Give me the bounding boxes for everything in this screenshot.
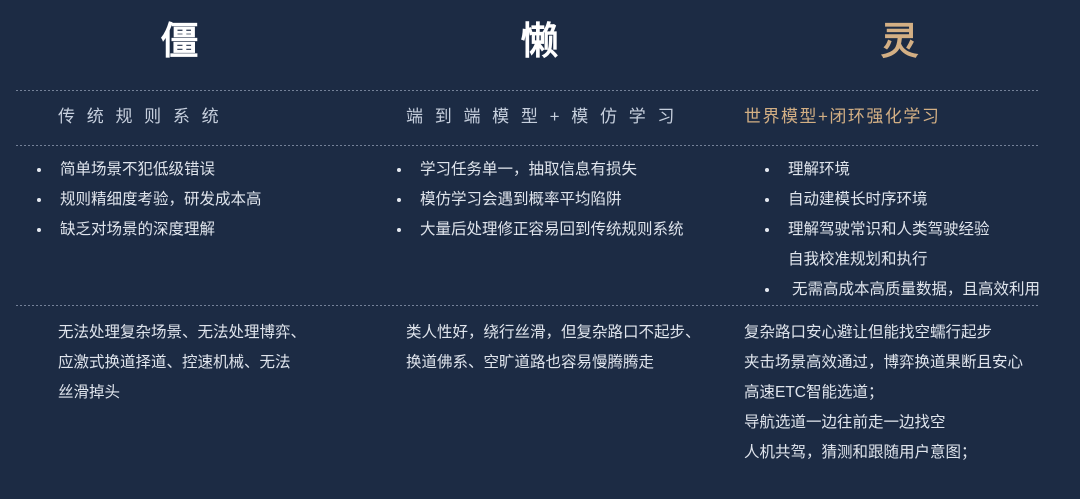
column-2-subtitle: 端 到 端 模 型 + 模 仿 学 习 <box>360 104 720 130</box>
column-1: 僵 <box>0 14 360 86</box>
column-1-summary: 无法处理复杂场景、无法处理博弈、 应激式换道择道、控速机械、无法 丝滑掉头 <box>0 318 360 408</box>
list-item: 缺乏对场景的深度理解 <box>34 215 350 245</box>
slide-root: 僵 懒 灵 传 统 规 则 系 统 端 到 端 模 型 + 模 仿 学 习 世界… <box>0 0 1080 499</box>
column-2-summary: 类人性好，绕行丝滑，但复杂路口不起步、 换道佛系、空旷道路也容易慢腾腾走 <box>360 318 720 378</box>
column-3-bullets-cell: 理解环境 自动建模长时序环境 理解驾驶常识和人类驾驶经验 自我校准规划和执行 无… <box>720 155 1080 300</box>
summary-row: 无法处理复杂场景、无法处理博弈、 应激式换道择道、控速机械、无法 丝滑掉头 类人… <box>0 318 1080 493</box>
summary-line: 复杂路口安心避让但能找空蠕行起步 <box>744 318 1072 348</box>
list-item: 大量后处理修正容易回到传统规则系统 <box>394 215 710 245</box>
column-1-subtitle-cell: 传 统 规 则 系 统 <box>0 104 360 142</box>
divider-bottom <box>16 305 1040 306</box>
summary-line: 丝滑掉头 <box>58 378 352 408</box>
list-item: 自我校准规划和执行 <box>762 245 1070 275</box>
column-2-bullet-list: 学习任务单一，抽取信息有损失 模仿学习会遇到概率平均陷阱 大量后处理修正容易回到… <box>360 155 720 245</box>
list-item: 学习任务单一，抽取信息有损失 <box>394 155 710 185</box>
column-2-subtitle-cell: 端 到 端 模 型 + 模 仿 学 习 <box>360 104 720 142</box>
column-3: 灵 <box>720 14 1080 86</box>
divider-top <box>16 90 1040 91</box>
column-2-summary-cell: 类人性好，绕行丝滑，但复杂路口不起步、 换道佛系、空旷道路也容易慢腾腾走 <box>360 318 720 493</box>
summary-line: 导航选道一边往前走一边找空 <box>744 408 1072 438</box>
summary-line: 应激式换道择道、控速机械、无法 <box>58 348 352 378</box>
column-1-subtitle: 传 统 规 则 系 统 <box>0 104 360 130</box>
column-3-subtitle-cell: 世界模型+闭环强化学习 <box>720 104 1080 142</box>
column-1-headline: 僵 <box>0 14 360 70</box>
subtitle-row: 传 统 规 则 系 统 端 到 端 模 型 + 模 仿 学 习 世界模型+闭环强… <box>0 104 1080 142</box>
list-item: 无需高成本高质量数据，且高效利用 <box>762 275 1070 305</box>
column-3-headline: 灵 <box>720 14 1080 70</box>
summary-line: 人机共驾，猜测和跟随用户意图； <box>744 438 1072 468</box>
list-item: 理解环境 <box>762 155 1070 185</box>
column-1-bullet-list: 简单场景不犯低级错误 规则精细度考验，研发成本高 缺乏对场景的深度理解 <box>0 155 360 245</box>
column-3-subtitle: 世界模型+闭环强化学习 <box>720 104 1080 130</box>
column-2: 懒 <box>360 14 720 86</box>
list-item: 理解驾驶常识和人类驾驶经验 <box>762 215 1070 245</box>
list-item: 简单场景不犯低级错误 <box>34 155 350 185</box>
list-item: 规则精细度考验，研发成本高 <box>34 185 350 215</box>
column-2-bullets-cell: 学习任务单一，抽取信息有损失 模仿学习会遇到概率平均陷阱 大量后处理修正容易回到… <box>360 155 720 300</box>
list-item: 自动建模长时序环境 <box>762 185 1070 215</box>
summary-line: 高速ETC智能选道； <box>744 378 1072 408</box>
divider-middle <box>16 145 1040 146</box>
column-3-bullet-list: 理解环境 自动建模长时序环境 理解驾驶常识和人类驾驶经验 自我校准规划和执行 无… <box>720 155 1080 305</box>
list-item: 模仿学习会遇到概率平均陷阱 <box>394 185 710 215</box>
summary-line: 无法处理复杂场景、无法处理博弈、 <box>58 318 352 348</box>
column-1-bullets-cell: 简单场景不犯低级错误 规则精细度考验，研发成本高 缺乏对场景的深度理解 <box>0 155 360 300</box>
column-3-summary-cell: 复杂路口安心避让但能找空蠕行起步 夹击场景高效通过，博弈换道果断且安心 高速ET… <box>720 318 1080 493</box>
bullets-row: 简单场景不犯低级错误 规则精细度考验，研发成本高 缺乏对场景的深度理解 学习任务… <box>0 155 1080 300</box>
summary-line: 夹击场景高效通过，博弈换道果断且安心 <box>744 348 1072 378</box>
summary-line: 换道佛系、空旷道路也容易慢腾腾走 <box>406 348 712 378</box>
column-1-summary-cell: 无法处理复杂场景、无法处理博弈、 应激式换道择道、控速机械、无法 丝滑掉头 <box>0 318 360 493</box>
column-2-headline: 懒 <box>360 14 720 70</box>
column-3-summary: 复杂路口安心避让但能找空蠕行起步 夹击场景高效通过，博弈换道果断且安心 高速ET… <box>720 318 1080 468</box>
headline-row: 僵 懒 灵 <box>0 14 1080 86</box>
summary-line: 类人性好，绕行丝滑，但复杂路口不起步、 <box>406 318 712 348</box>
